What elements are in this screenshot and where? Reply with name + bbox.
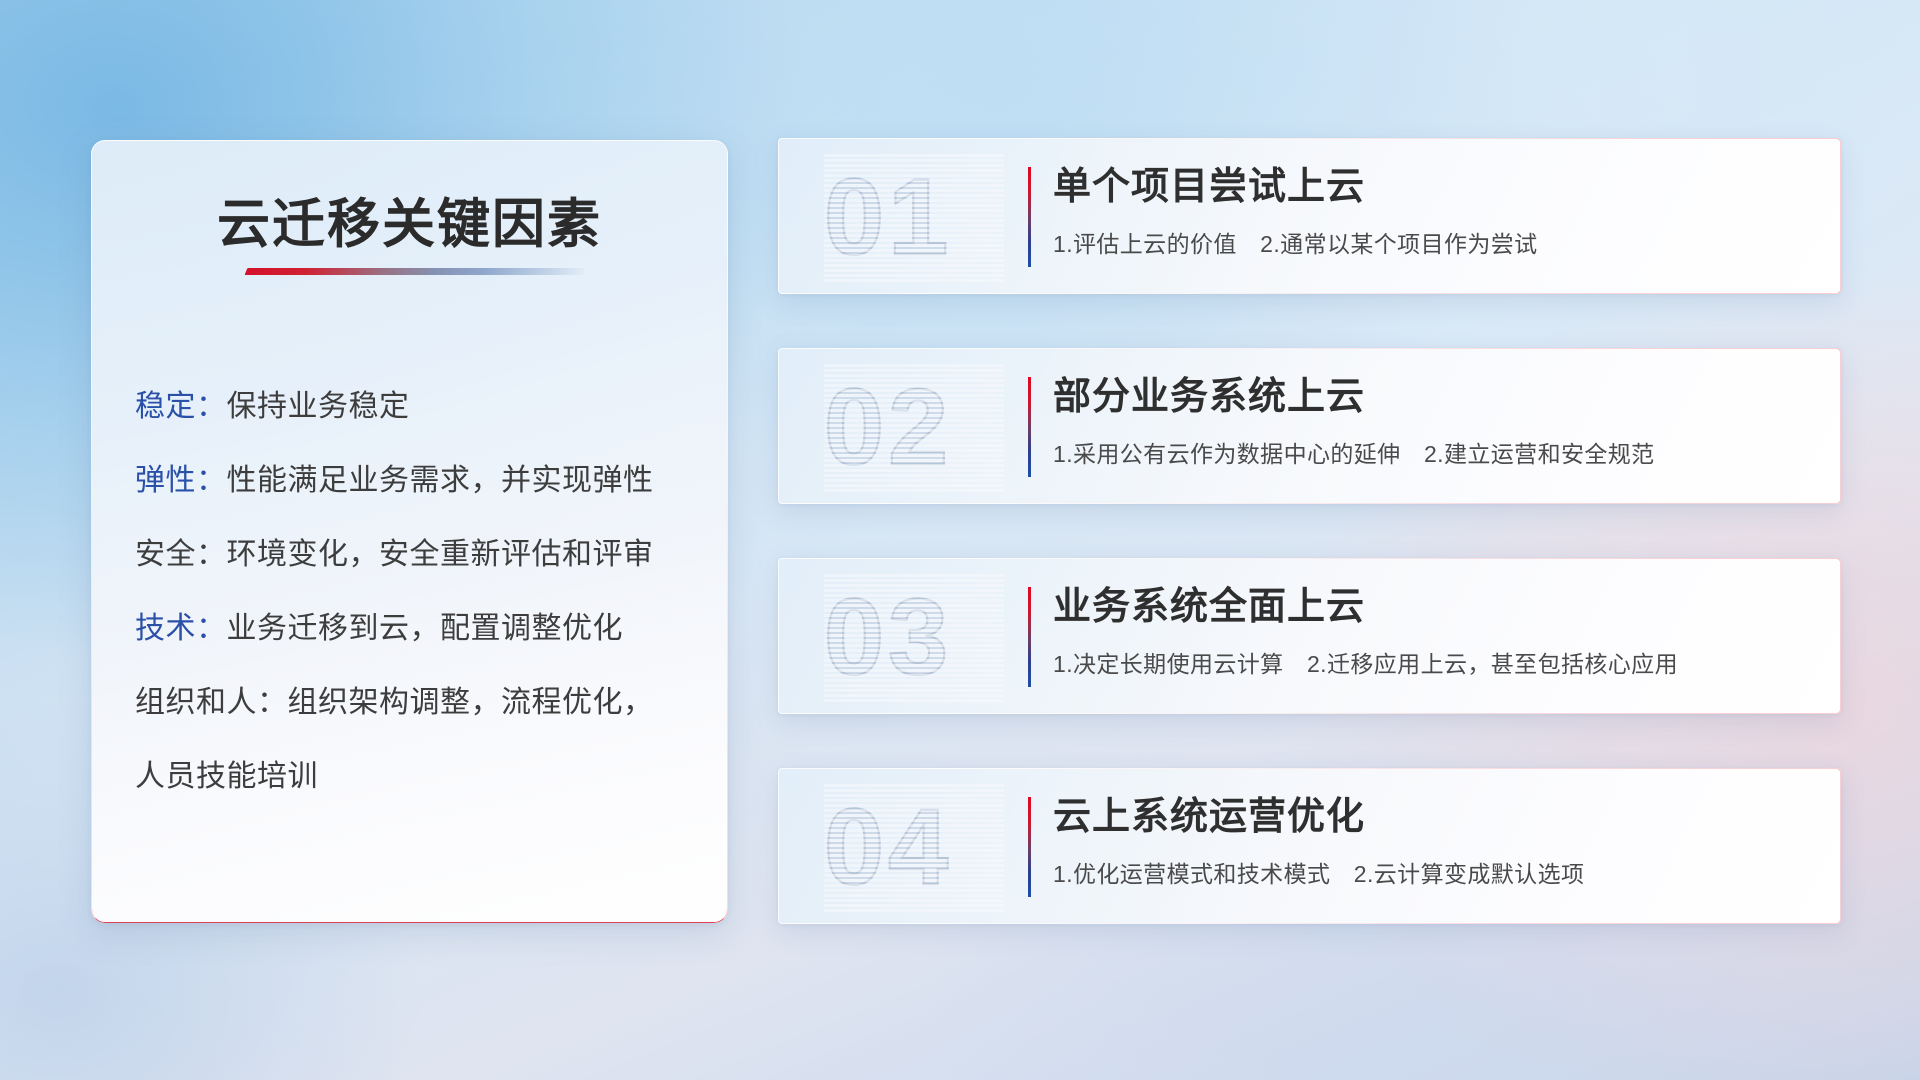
factor-text: 组织架构调整，流程优化， [288,686,654,719]
card-body: 单个项目尝试上云 1.评估上云的价值 2.通常以某个项目作为尝试 [1053,160,1817,260]
factor-label: 组织和人： [135,686,288,719]
stage-number: 02 [824,362,1004,492]
stage-number: 03 [824,572,1004,702]
card-title: 业务系统全面上云 [1053,580,1817,634]
factor-row: 人员技能培训 [135,740,698,814]
card-body: 部分业务系统上云 1.采用公有云作为数据中心的延伸 2.建立运营和安全规范 [1053,370,1817,470]
factor-row: 组织和人：组织架构调整，流程优化， [135,666,698,740]
card-divider-accent [1028,377,1031,477]
stage-number: 01 [824,152,1004,282]
factor-text: 保持业务稳定 [227,390,410,423]
card-divider-accent [1028,167,1031,267]
factor-label: 弹性： [135,464,227,497]
card-subtitle: 1.评估上云的价值 2.通常以某个项目作为尝试 [1053,228,1817,260]
stage-card-04[interactable]: 04 云上系统运营优化 1.优化运营模式和技术模式 2.云计算变成默认选项 [778,768,1841,924]
factor-label: 稳定： [135,390,227,423]
factor-row: 技术：业务迁移到云，配置调整优化 [135,592,698,666]
factor-text: 环境变化，安全重新评估和评审 [227,538,654,571]
factor-row: 稳定：保持业务稳定 [135,370,698,444]
stage-card-03[interactable]: 03 业务系统全面上云 1.决定长期使用云计算 2.迁移应用上云，甚至包括核心应… [778,558,1841,714]
card-body: 云上系统运营优化 1.优化运营模式和技术模式 2.云计算变成默认选项 [1053,790,1817,890]
key-factors-panel: 云迁移关键因素 稳定：保持业务稳定 弹性：性能满足业务需求，并实现弹性 安全：环… [91,140,728,923]
card-subtitle: 1.采用公有云作为数据中心的延伸 2.建立运营和安全规范 [1053,438,1817,470]
factor-row: 弹性：性能满足业务需求，并实现弹性 [135,444,698,518]
card-divider-accent [1028,587,1031,687]
factor-text: 性能满足业务需求，并实现弹性 [227,464,654,497]
card-title: 部分业务系统上云 [1053,370,1817,424]
factor-text: 人员技能培训 [135,760,318,793]
card-title: 云上系统运营优化 [1053,790,1817,844]
stage-card-01[interactable]: 01 单个项目尝试上云 1.评估上云的价值 2.通常以某个项目作为尝试 [778,138,1841,294]
page-title: 云迁移关键因素 [91,182,728,258]
factor-label: 安全： [135,538,227,571]
factor-row: 安全：环境变化，安全重新评估和评审 [135,518,698,592]
stage-number: 04 [824,782,1004,912]
card-divider-accent [1028,797,1031,897]
card-title: 单个项目尝试上云 [1053,160,1817,214]
card-body: 业务系统全面上云 1.决定长期使用云计算 2.迁移应用上云，甚至包括核心应用 [1053,580,1817,680]
migration-stage-cards: 01 单个项目尝试上云 1.评估上云的价值 2.通常以某个项目作为尝试 02 部… [778,138,1841,978]
factor-text: 业务迁移到云，配置调整优化 [227,612,624,645]
card-subtitle: 1.决定长期使用云计算 2.迁移应用上云，甚至包括核心应用 [1053,648,1817,680]
title-underline-accent [245,268,586,275]
stage-card-02[interactable]: 02 部分业务系统上云 1.采用公有云作为数据中心的延伸 2.建立运营和安全规范 [778,348,1841,504]
card-subtitle: 1.优化运营模式和技术模式 2.云计算变成默认选项 [1053,858,1817,890]
factor-list: 稳定：保持业务稳定 弹性：性能满足业务需求，并实现弹性 安全：环境变化，安全重新… [135,370,698,814]
factor-label: 技术： [135,612,227,645]
